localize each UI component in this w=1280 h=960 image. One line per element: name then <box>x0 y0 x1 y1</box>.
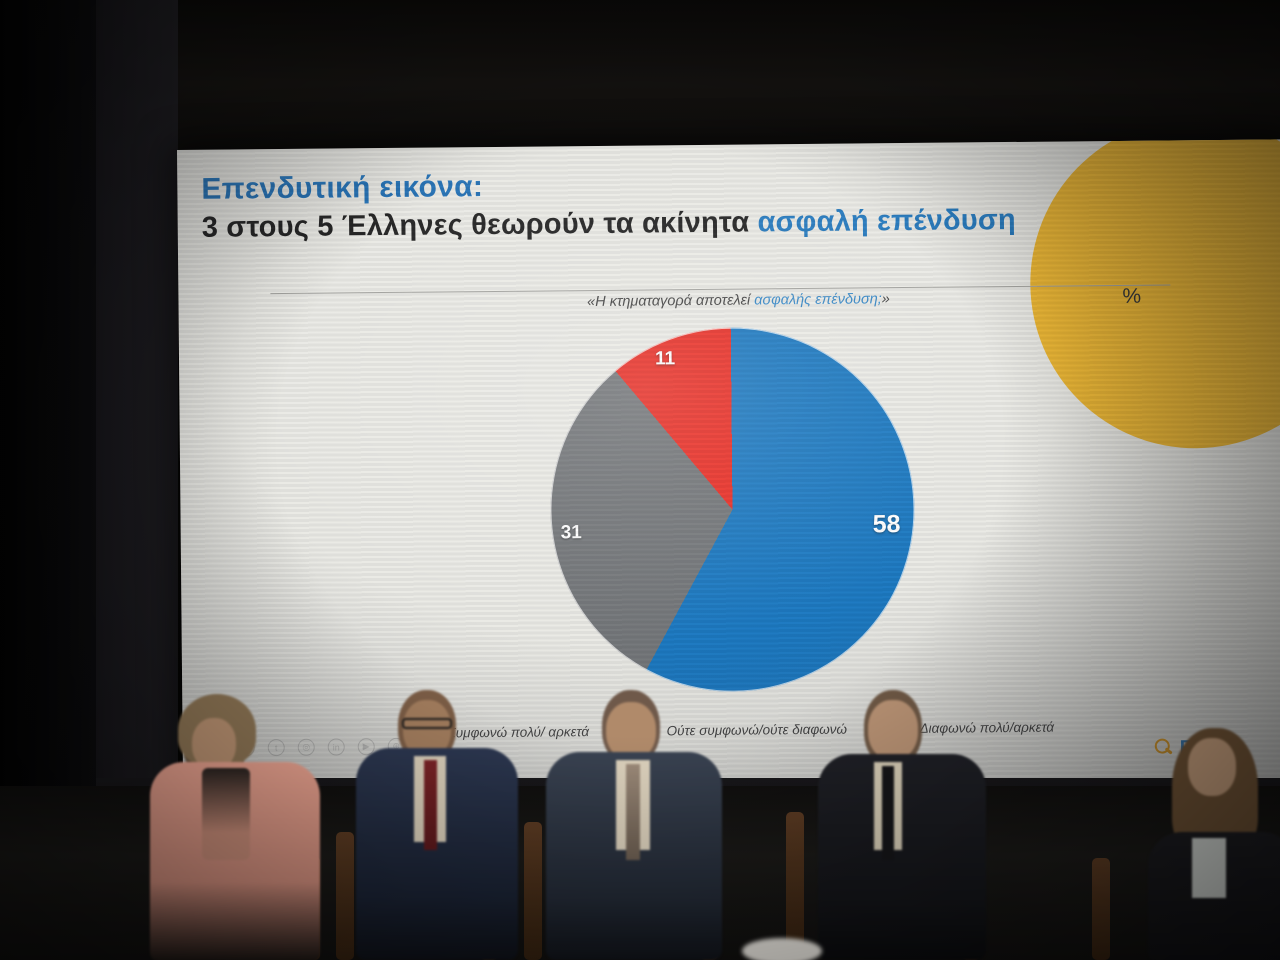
panelist-2 <box>356 690 524 960</box>
projection-screen: Επενδυτική εικόνα: 3 στους 5 Έλληνες θεω… <box>177 139 1280 790</box>
pie-slice-label-11: 11 <box>655 348 675 370</box>
presentation-slide: Επενδυτική εικόνα: 3 στους 5 Έλληνες θεω… <box>177 139 1280 790</box>
decorative-yellow-circle <box>1029 139 1280 449</box>
unit-percent-label: % <box>1122 285 1141 309</box>
panelist-1 <box>150 700 330 960</box>
coffee-cup <box>742 938 822 960</box>
pie-slice-label-58: 58 <box>872 510 900 539</box>
pie-disc <box>549 326 916 693</box>
auditorium-wall-top <box>0 0 1280 152</box>
panelist-5 <box>1148 728 1280 960</box>
chart-question-label: «Η κτηματαγορά αποτελεί ασφαλής επένδυση… <box>518 291 958 311</box>
question-prefix: «Η κτηματαγορά αποτελεί <box>587 292 754 310</box>
panelist-3 <box>546 690 726 960</box>
slide-title-line2-plain: 3 στους 5 Έλληνες θεωρούν τα ακίνητα <box>202 206 758 243</box>
linkedin-icon: in <box>328 738 345 755</box>
pie-chart <box>549 326 916 693</box>
question-suffix: » <box>882 291 890 307</box>
pie-slice-label-31: 31 <box>561 522 582 544</box>
question-highlight: ασφαλής επένδυση; <box>754 291 882 308</box>
slide-title-line2-highlight: ασφαλή επένδυση <box>757 204 1016 238</box>
slide-title-line1: Επενδυτική εικόνα: <box>201 170 483 207</box>
panelist-4 <box>818 690 990 960</box>
slide-title-line2: 3 στους 5 Έλληνες θεωρούν τα ακίνητα ασφ… <box>202 204 1016 245</box>
photo-scene: Επενδυτική εικόνα: 3 στους 5 Έλληνες θεω… <box>0 0 1280 960</box>
